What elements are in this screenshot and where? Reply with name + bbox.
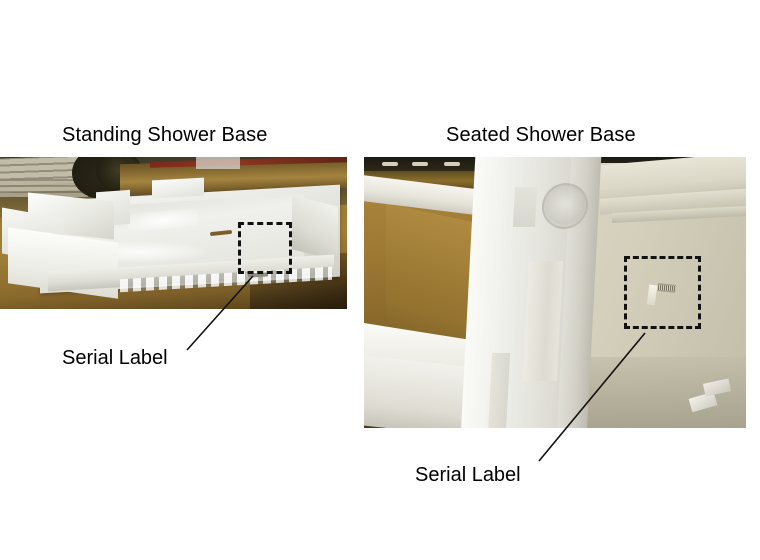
photo-standing-shower-base [0,157,347,309]
highlight-box-seated-serial-label [624,256,701,329]
annotation-label-seated-serial-label: Serial Label [415,464,521,487]
foam-pillar-groove-upper [513,187,537,227]
background-chair [196,157,240,169]
ceiling-light [382,162,398,166]
foam-rail-right [292,195,338,260]
figure-title-standing-shower-base: Standing Shower Base [62,124,267,147]
foam-block-top [152,178,204,199]
slide-canvas: Standing Shower Base Serial Label Seated… [0,0,760,560]
highlight-box-standing-serial-label [238,222,292,274]
ceiling-light [444,162,460,166]
foam-pillar-groove-mid [523,261,563,381]
figure-title-seated-shower-base: Seated Shower Base [446,124,636,147]
ceiling-light [412,162,428,166]
annotation-label-standing-serial-label: Serial Label [62,347,168,370]
